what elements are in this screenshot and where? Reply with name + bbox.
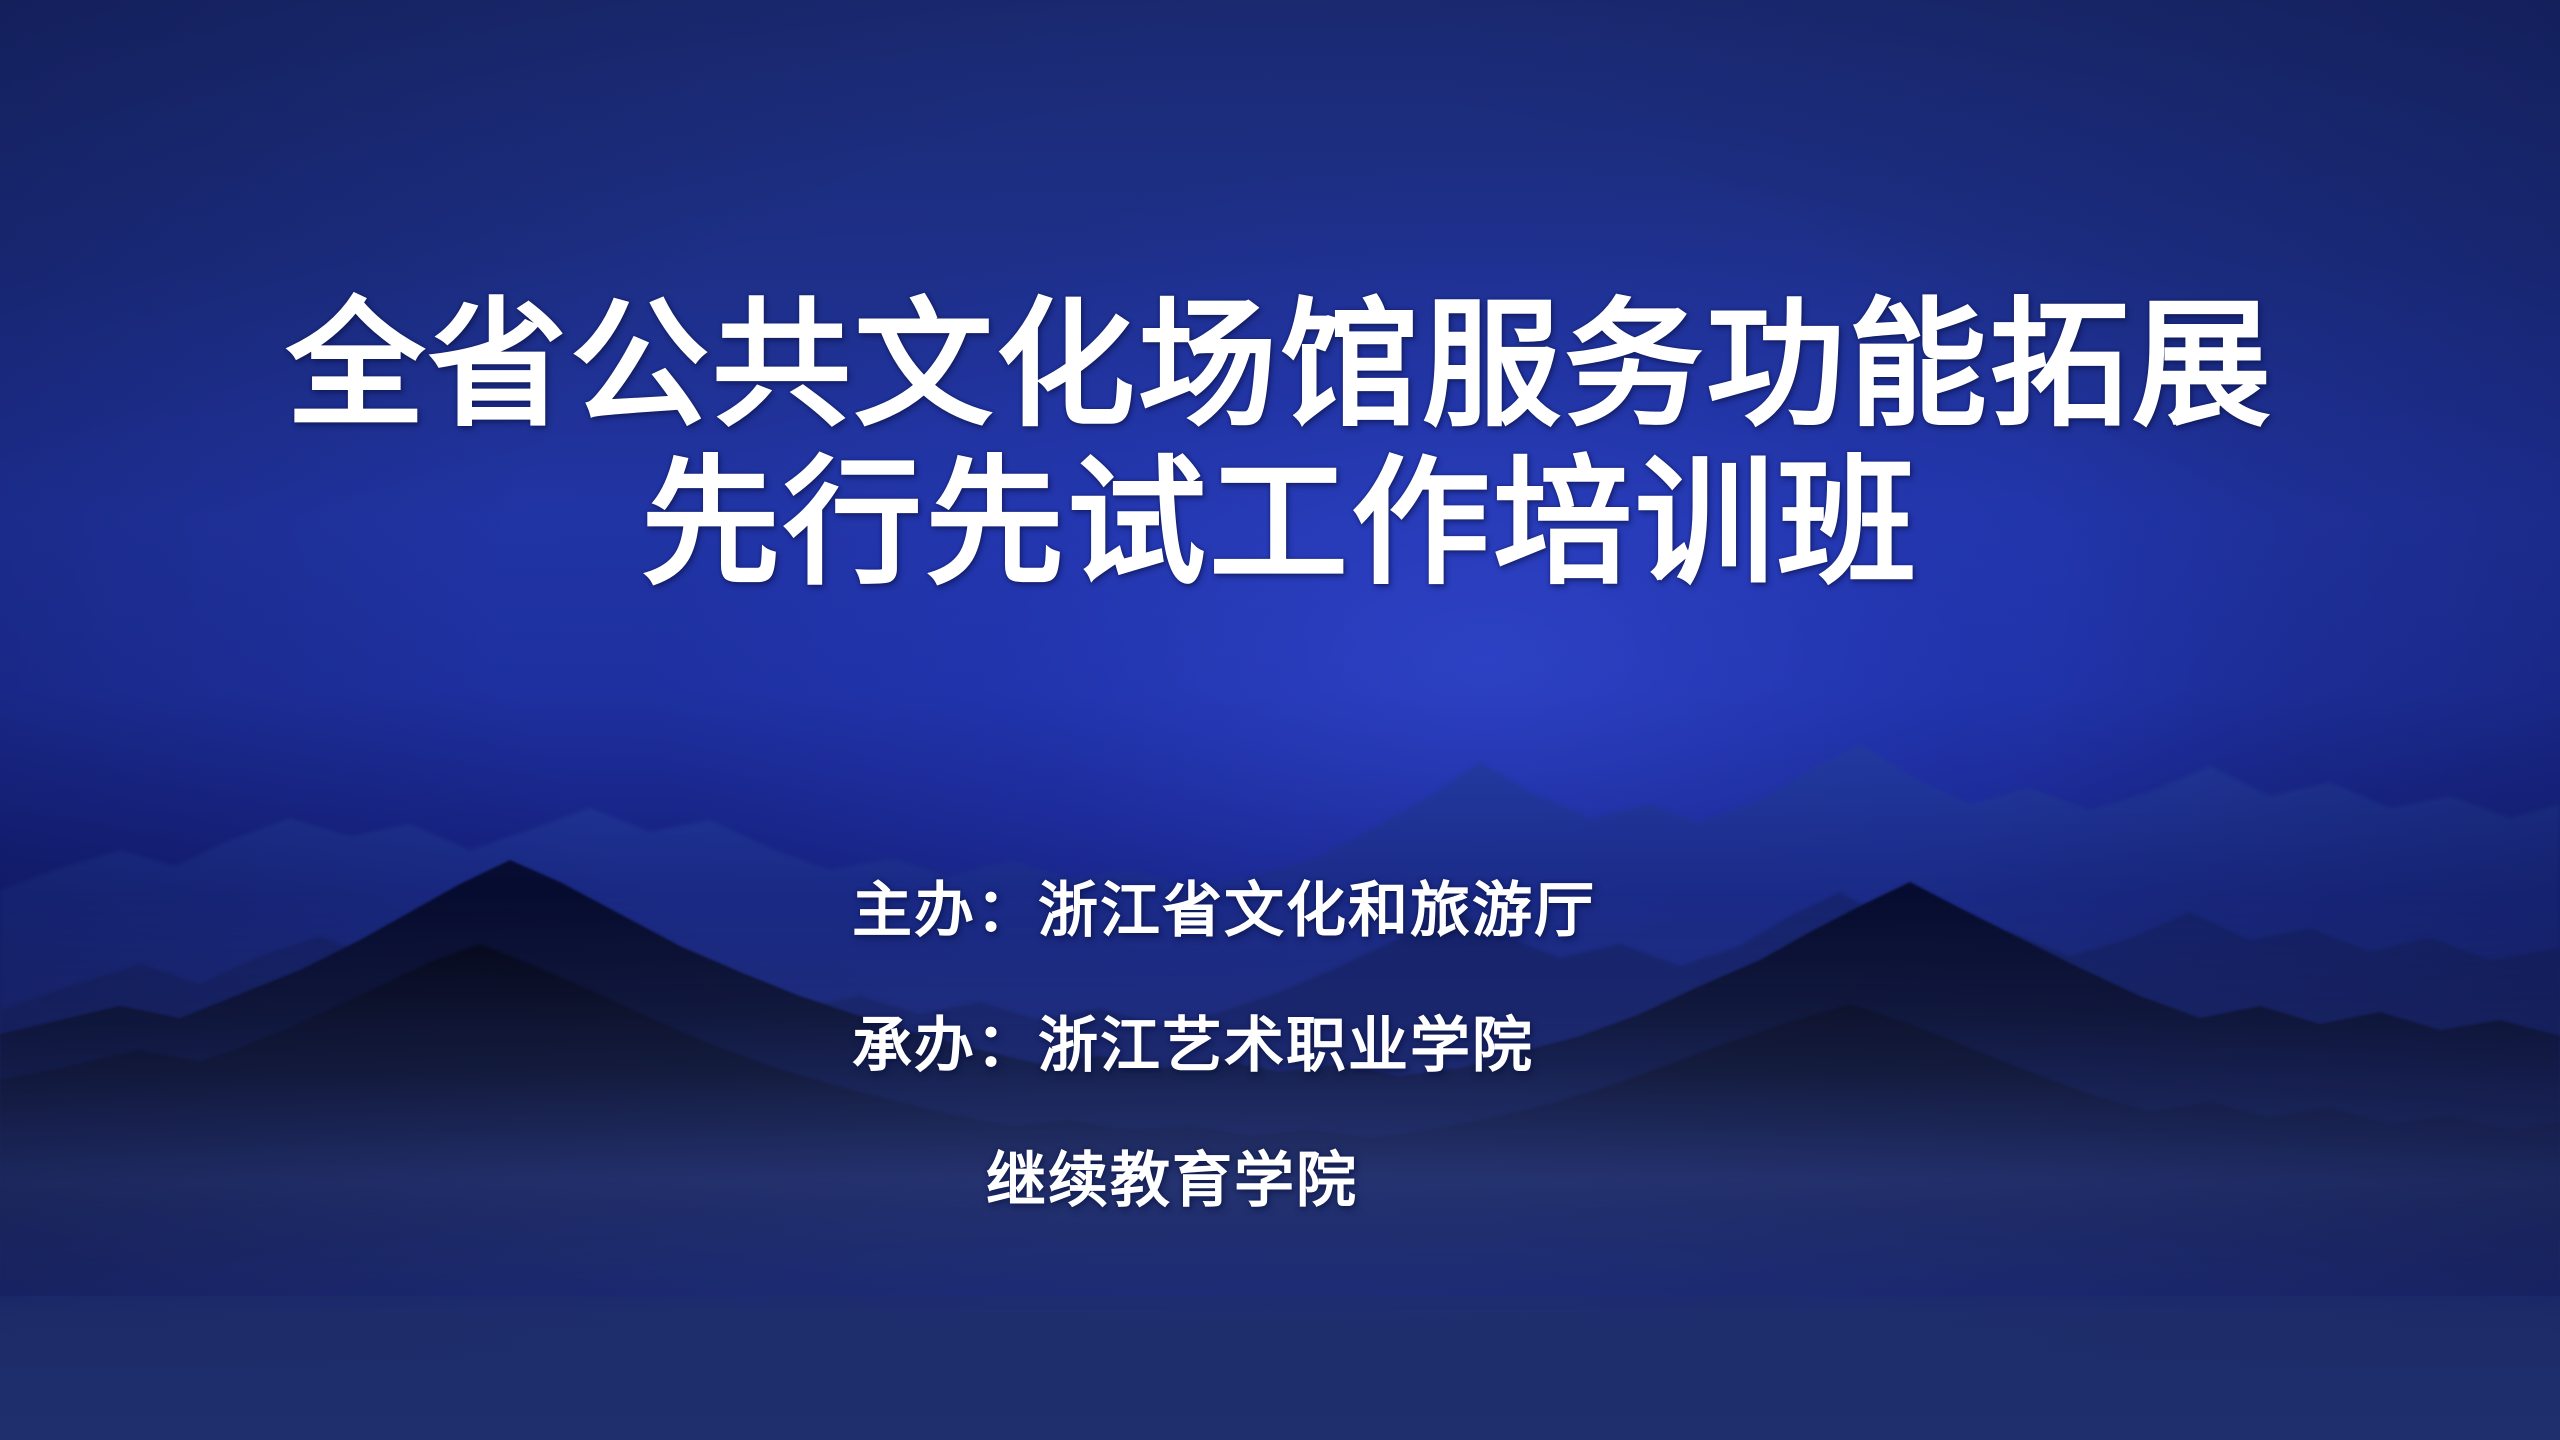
slide-subtitle: 主办：浙江省文化和旅游厅 承办：浙江艺术职业学院 继续教育学院 [852,862,1952,1219]
title-line-1: 全省公共文化场馆服务功能拓展 [0,286,2560,444]
title-line-2: 先行先试工作培训班 [0,444,2560,602]
subtitle-host-continuation: 继续教育学院 [852,1132,1952,1219]
slide-title: 全省公共文化场馆服务功能拓展 先行先试工作培训班 [0,286,2560,603]
text-stack: 全省公共文化场馆服务功能拓展 先行先试工作培训班 主办：浙江省文化和旅游厅 承办… [0,0,2560,1440]
subtitle-organizer: 主办：浙江省文化和旅游厅 [852,862,1952,949]
subtitle-host: 承办：浙江艺术职业学院 [852,997,1952,1084]
title-slide: 全省公共文化场馆服务功能拓展 先行先试工作培训班 主办：浙江省文化和旅游厅 承办… [0,0,2560,1440]
